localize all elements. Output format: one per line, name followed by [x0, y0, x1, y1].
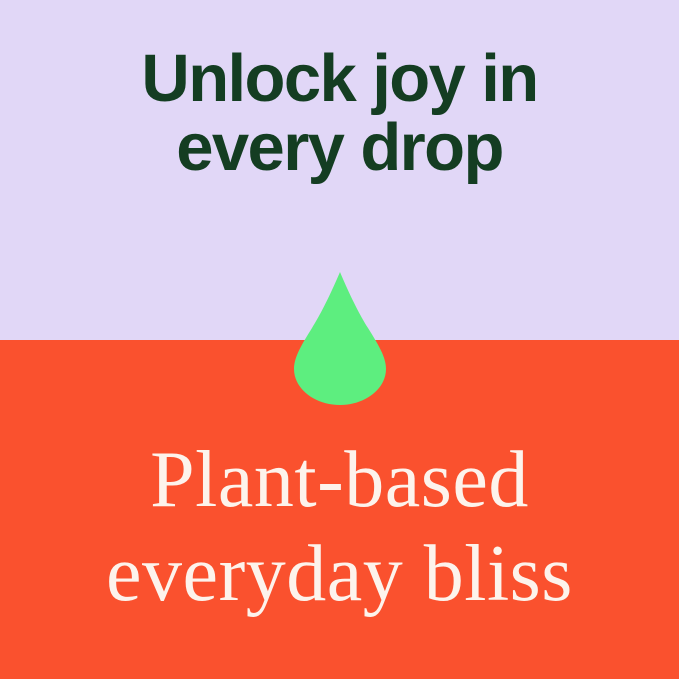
subheadline-line-2: everyday bliss	[0, 528, 679, 622]
headline-line-1: Unlock joy in	[0, 44, 679, 113]
headline-line-2: every drop	[0, 113, 679, 182]
subheadline-line-1: Plant-based	[0, 434, 679, 528]
headline: Unlock joy in every drop	[0, 44, 679, 182]
water-droplet-icon	[294, 272, 386, 405]
subheadline: Plant-based everyday bliss	[0, 434, 679, 621]
promotional-poster: Unlock joy in every drop Plant-based eve…	[0, 0, 679, 679]
